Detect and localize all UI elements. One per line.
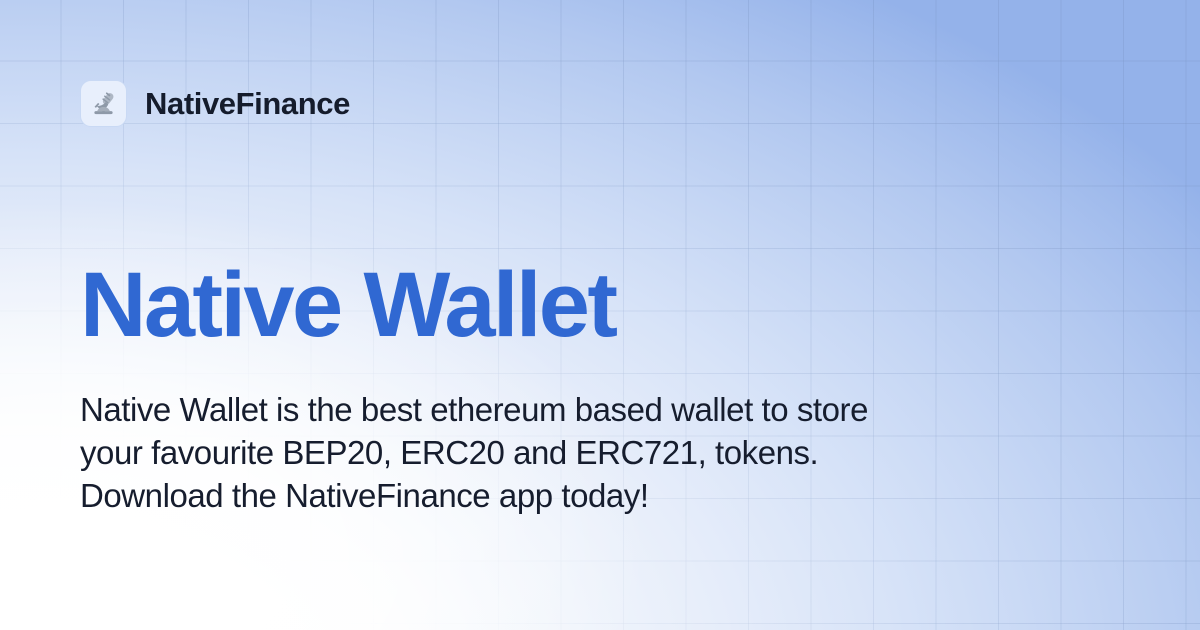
page-description: Native Wallet is the best ethereum based… [80, 388, 870, 518]
brand-name: NativeFinance [145, 86, 350, 122]
og-card: NativeFinance Native Wallet Native Walle… [0, 0, 1200, 630]
microscope-icon [80, 80, 127, 127]
page-title: Native Wallet [80, 259, 615, 351]
brand-lockup[interactable]: NativeFinance [80, 80, 350, 127]
card-content: NativeFinance Native Wallet Native Walle… [0, 0, 1200, 630]
